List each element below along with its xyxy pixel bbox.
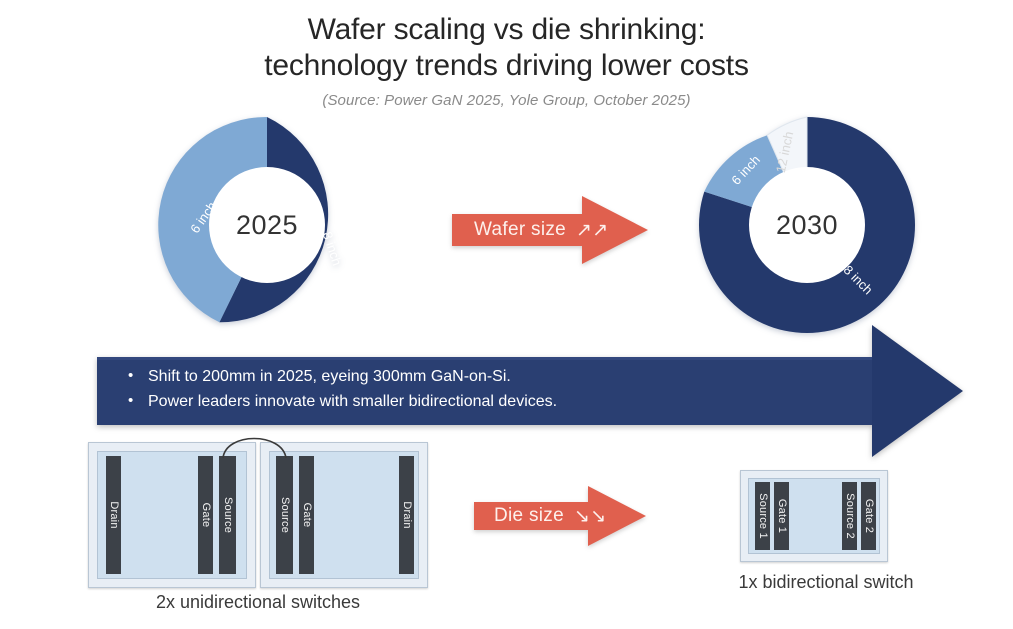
die-size-label: Die size xyxy=(494,505,564,527)
donut-chart-2030: 8 inch 6 inch 12 inch 2030 xyxy=(697,115,917,335)
electrode-gate-2-bidir-label: Gate 2 xyxy=(863,499,875,533)
electrode-source-2-bidir: Source 2 xyxy=(842,482,857,550)
unidirectional-caption: 2x unidirectional switches xyxy=(88,592,428,613)
donut-2030-svg: 8 inch 6 inch 12 inch xyxy=(697,115,917,335)
die-size-arrow-text: Die size ↘↘ xyxy=(474,486,606,546)
electrode-source-1-label: Source xyxy=(222,497,234,533)
wafer-size-trend-icon: ↗↗ xyxy=(566,219,608,242)
electrode-drain-2-label: Drain xyxy=(401,501,413,528)
electrode-gate-1-bidir: Gate 1 xyxy=(774,482,789,550)
wafer-size-label: Wafer size xyxy=(474,219,566,241)
source-interconnect-arc xyxy=(216,430,300,460)
bidirectional-die-package: Source 1 Gate 1 Source 2 Gate 2 xyxy=(740,470,888,562)
electrode-gate-2-bidir: Gate 2 xyxy=(861,482,876,550)
svg-text:8 inch: 8 inch xyxy=(320,230,345,268)
die-size-trend-icon: ↘↘ xyxy=(564,505,606,528)
bidirectional-caption: 1x bidirectional switch xyxy=(676,572,976,593)
wafer-size-arrow-text: Wafer size ↗↗ xyxy=(452,196,609,264)
unidirectional-die-2-substrate: Source Gate Drain xyxy=(269,451,419,579)
page-title-line1: Wafer scaling vs die shrinking: xyxy=(308,13,706,46)
unidirectional-die-1-package: Drain Gate Source xyxy=(88,442,256,588)
electrode-gate-1-bidir-label: Gate 1 xyxy=(776,499,788,533)
page-title-line2: technology trends driving lower costs xyxy=(0,48,1013,84)
bidirectional-die-substrate: Source 1 Gate 1 Source 2 Gate 2 xyxy=(748,478,880,554)
electrode-source-2-bidir-label: Source 2 xyxy=(844,493,856,539)
electrode-source-1-bidir-label: Source 1 xyxy=(757,493,769,539)
trend-banner-bullet-1: Shift to 200mm in 2025, eyeing 300mm GaN… xyxy=(120,364,740,389)
electrode-drain-1-label: Drain xyxy=(108,501,120,528)
electrode-source-1-bidir: Source 1 xyxy=(755,482,770,550)
electrode-gate-1-label: Gate xyxy=(200,503,212,528)
source-subtitle: (Source: Power GaN 2025, Yole Group, Oct… xyxy=(0,92,1013,109)
donut-chart-2025: 8 inch 6 inch 2025 xyxy=(157,115,377,335)
infographic-canvas: Wafer scaling vs die shrinking: technolo… xyxy=(0,0,1013,629)
trend-banner-text: Shift to 200mm in 2025, eyeing 300mm GaN… xyxy=(120,364,740,414)
unidirectional-die-2-package: Source Gate Drain xyxy=(260,442,428,588)
unidirectional-die-1-substrate: Drain Gate Source xyxy=(97,451,247,579)
electrode-gate-2: Gate xyxy=(299,456,314,574)
donut-2025-hole xyxy=(209,167,325,283)
donut-2025-svg: 8 inch 6 inch xyxy=(157,115,377,335)
electrode-gate-1: Gate xyxy=(198,456,213,574)
electrode-gate-2-label: Gate xyxy=(301,503,313,528)
donut-2025-slice-label-8inch: 8 inch xyxy=(320,230,345,268)
electrode-drain-1: Drain xyxy=(106,456,121,574)
trend-banner-bullet-2: Power leaders innovate with smaller bidi… xyxy=(120,389,740,414)
page-title: Wafer scaling vs die shrinking: technolo… xyxy=(0,12,1013,84)
wafer-size-arrow: Wafer size ↗↗ xyxy=(452,196,648,264)
electrode-drain-2: Drain xyxy=(399,456,414,574)
electrode-source-2: Source xyxy=(276,456,293,574)
trend-banner-bullet-list: Shift to 200mm in 2025, eyeing 300mm GaN… xyxy=(120,364,740,414)
die-size-arrow: Die size ↘↘ xyxy=(474,486,646,546)
electrode-source-1: Source xyxy=(219,456,236,574)
electrode-source-2-label: Source xyxy=(279,497,291,533)
